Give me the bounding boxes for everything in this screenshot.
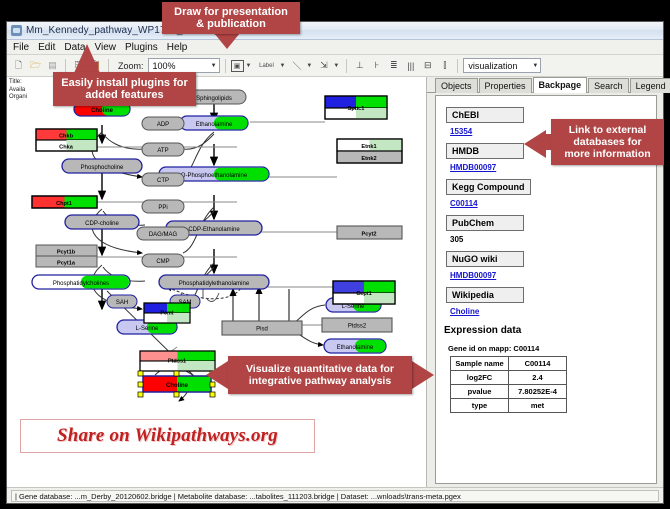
copy-icon[interactable]: ⎘: [71, 58, 86, 73]
datanode-icon[interactable]: ▣: [231, 60, 244, 72]
zoom-label: Zoom:: [118, 61, 144, 71]
callout-plugins-line2: added features: [61, 89, 188, 101]
node-ptdss2: Ptdss2: [322, 318, 392, 332]
node-ethanolamine: Ethanolamine: [180, 116, 248, 130]
expr-key-type: type: [451, 399, 509, 413]
expr-value-pvalue: 7.80252E-4: [509, 385, 567, 399]
node-cept1: Cept1: [333, 281, 395, 304]
svg-text:O-Phosphoethanolamine: O-Phosphoethanolamine: [181, 173, 248, 179]
svg-text:Phosphatidylcholines: Phosphatidylcholines: [53, 281, 109, 287]
chevron-down-icon: ▼: [205, 63, 217, 69]
svg-text:Ethanolamine: Ethanolamine: [196, 122, 233, 128]
node-pcyt2: Pcyt2: [337, 226, 402, 239]
visualization-combobox[interactable]: visualization ▼: [463, 58, 541, 73]
db-header-chebi: ChEBI: [446, 107, 524, 123]
svg-text:Phosphocholine: Phosphocholine: [81, 165, 124, 171]
db-value-pubchem: 305: [450, 235, 656, 244]
svg-text:Cept1: Cept1: [356, 291, 372, 297]
callout-visualize-quantitative-data: Visualize quantitative data for integrat…: [228, 356, 412, 394]
expr-key-log2fc: log2FC: [451, 371, 509, 385]
callout-easily-install-plugins: Easily install plugins for added feature…: [53, 72, 196, 106]
svg-text:Chpt1: Chpt1: [56, 201, 72, 207]
node-dagmag: DAG/MAG: [137, 227, 189, 240]
panel-tab-strip: Objects Properties Backpage Search Legen…: [427, 77, 663, 93]
application-icon: [11, 25, 22, 36]
db-header-hmdb: HMDB: [446, 143, 524, 159]
pathway-title-label: Title:: [9, 79, 27, 87]
menu-edit[interactable]: Edit: [38, 40, 55, 55]
expression-data-table: Sample name C00114 log2FC 2.4 pvalue 7.8…: [450, 356, 567, 413]
node-atp: ATP: [142, 143, 184, 156]
expr-key-sample-name: Sample name: [451, 357, 509, 371]
table-row: log2FC 2.4: [451, 371, 567, 385]
expr-value-sample-name: C00114: [509, 357, 567, 371]
node-chpt1: Chpt1: [32, 196, 97, 208]
toolbar-separator-1: [65, 59, 66, 73]
callout-link-to-external-databases: Link to external databases for more info…: [551, 119, 664, 165]
order-icon[interactable]: ⫿: [437, 58, 452, 73]
db-header-wikipedia: Wikipedia: [446, 287, 524, 303]
node-ctp: CTP: [142, 173, 184, 186]
status-bar-text: | Gene database: ...m_Derby_20120602.bri…: [11, 490, 659, 502]
svg-text:Sptlc1: Sptlc1: [348, 106, 365, 112]
node-ptdss1: Ptdss1: [140, 351, 215, 371]
pathway-available-label: Availa: [9, 87, 27, 95]
node-etnk1-etnk2: Etnk1 Etnk2: [337, 139, 402, 163]
node-pisd: Pisd: [222, 321, 302, 335]
menu-plugins[interactable]: Plugins: [125, 40, 158, 55]
toolbar-separator-3: [225, 59, 226, 73]
table-row: Sample name C00114: [451, 357, 567, 371]
svg-text:Chkb: Chkb: [59, 133, 74, 139]
visualization-value: visualization: [468, 61, 517, 71]
svg-text:Phosphatidylethanolamine: Phosphatidylethanolamine: [179, 281, 250, 287]
pathway-organism-label: Organi: [9, 94, 27, 102]
node-pemt: Pemt: [144, 303, 190, 323]
align-top-icon[interactable]: ⊥: [352, 58, 367, 73]
svg-text:Chka: Chka: [59, 144, 74, 150]
node-chkb-chka: Chkb Chka: [36, 129, 97, 151]
arrow-tool-icon[interactable]: ⇲: [316, 58, 331, 73]
node-choline-selected: Choline: [138, 371, 215, 397]
svg-text:CTP: CTP: [157, 178, 169, 184]
svg-text:Ptdss1: Ptdss1: [168, 359, 186, 365]
db-header-kegg-compound: Kegg Compound: [446, 179, 531, 195]
table-row: pvalue 7.80252E-4: [451, 385, 567, 399]
svg-text:CDP-choline: CDP-choline: [85, 221, 119, 227]
distribute-icon[interactable]: |||: [403, 58, 418, 73]
callout-visual-line2: integrative pathway analysis: [246, 375, 394, 387]
svg-text:CMP: CMP: [156, 259, 169, 265]
db-header-pubchem: PubChem: [446, 215, 524, 231]
svg-text:Choline: Choline: [166, 383, 189, 389]
callout-draw-line1: Draw for presentation: [174, 6, 288, 18]
label-dropdown-icon[interactable]: ▼: [279, 63, 285, 69]
toolbar-separator-5: [457, 59, 458, 73]
svg-text:Pemt: Pemt: [160, 311, 173, 317]
arrow-dropdown-icon[interactable]: ▼: [333, 63, 339, 69]
svg-text:L-Serine: L-Serine: [342, 304, 365, 310]
node-phosphatidylcholines: Phosphatidylcholines: [32, 275, 130, 289]
chevron-down-icon: ▼: [526, 63, 538, 69]
open-folder-icon[interactable]: 🗁: [28, 58, 43, 73]
callout-share-on-wikipathways: Share on Wikipathways.org: [20, 419, 315, 453]
tab-properties[interactable]: Properties: [479, 78, 532, 93]
svg-text:Pcyt1a: Pcyt1a: [57, 260, 76, 266]
node-adp: ADP: [142, 117, 184, 130]
menu-file[interactable]: File: [13, 40, 29, 55]
group-icon[interactable]: ⊟: [420, 58, 435, 73]
node-pcyt1b-pcyt1a: Pcyt1b Pcyt1a: [36, 245, 97, 267]
save-icon[interactable]: ▤: [45, 58, 60, 73]
callout-links-line3: more information: [564, 148, 650, 160]
svg-text:Pcyt1b: Pcyt1b: [57, 249, 76, 255]
align-left-icon[interactable]: ⊦: [369, 58, 384, 73]
new-icon[interactable]: 🗋: [11, 58, 26, 73]
db-link-nugo-wiki[interactable]: HMDB00097: [450, 271, 656, 280]
svg-text:ADP: ADP: [157, 122, 169, 128]
toolbar-separator-2: [108, 59, 109, 73]
db-header-nugo-wiki: NuGO wiki: [446, 251, 524, 267]
zoom-combobox[interactable]: 100% ▼: [148, 58, 220, 73]
expr-key-pvalue: pvalue: [451, 385, 509, 399]
menu-data[interactable]: Data: [64, 40, 85, 55]
tab-backpage[interactable]: Backpage: [533, 77, 588, 93]
svg-text:SAH: SAH: [116, 300, 128, 306]
callout-links-line2: databases for: [564, 136, 650, 148]
callout-plugins-line1: Easily install plugins for: [61, 77, 188, 89]
svg-text:DAG/MAG: DAG/MAG: [149, 232, 178, 238]
toolbar-separator-4: [346, 59, 347, 73]
menu-bar: File Edit Data View Plugins Help: [7, 40, 663, 55]
table-row: type met: [451, 399, 567, 413]
db-link-kegg-compound[interactable]: C00114: [450, 199, 656, 208]
svg-text:Sphingolipids: Sphingolipids: [196, 96, 232, 102]
status-bar: | Gene database: ...m_Derby_20120602.bri…: [7, 487, 663, 503]
expr-value-log2fc: 2.4: [509, 371, 567, 385]
menu-help[interactable]: Help: [167, 40, 188, 55]
svg-text:Etnk1: Etnk1: [361, 144, 376, 150]
svg-text:PPi: PPi: [158, 205, 167, 211]
callout-draw-for-publication: Draw for presentation & publication: [162, 2, 300, 34]
pathway-info-box: Title: Availa Organi: [9, 79, 27, 102]
svg-text:Pisd: Pisd: [256, 327, 268, 333]
menu-view[interactable]: View: [94, 40, 116, 55]
callout-visual-line1: Visualize quantitative data for: [246, 363, 394, 375]
tab-objects[interactable]: Objects: [435, 78, 478, 93]
callout-draw-line2: & publication: [174, 18, 288, 30]
expression-data-title: Expression data: [444, 325, 656, 336]
paste-icon[interactable]: 📋: [88, 58, 103, 73]
callout-links-line1: Link to external: [564, 124, 650, 136]
label-tool-icon[interactable]: Label: [255, 58, 277, 73]
stack-vertical-icon[interactable]: ≣: [386, 58, 401, 73]
share-text: Share on Wikipathways.org: [57, 425, 278, 447]
node-phosphocholine: Phosphocholine: [62, 159, 142, 173]
node-cdp-choline: CDP-choline: [65, 215, 139, 229]
line-dropdown-icon[interactable]: ▼: [306, 63, 312, 69]
datanode-dropdown-icon[interactable]: ▼: [246, 63, 252, 69]
expr-value-type: met: [509, 399, 567, 413]
node-sptlc1: Sptlc1: [325, 96, 387, 119]
window-title-bar: Mm_Kennedy_pathway_WP1771_45176.gpml: [7, 22, 663, 40]
tab-legend[interactable]: Legend: [630, 78, 670, 93]
node-ethanolamine-bottom: Ethanolamine: [324, 339, 386, 353]
gene-id-on-mapp: Gene id on mapp: C00114: [448, 344, 656, 353]
svg-text:CDP-Ethanolamine: CDP-Ethanolamine: [188, 227, 240, 233]
svg-text:Etnk2: Etnk2: [361, 156, 376, 162]
tab-search[interactable]: Search: [588, 78, 629, 93]
zoom-value: 100%: [153, 61, 176, 71]
node-cmp: CMP: [142, 254, 184, 267]
node-phosphatidylethanolamine: Phosphatidylethanolamine: [159, 275, 269, 289]
svg-text:Choline: Choline: [91, 108, 114, 114]
node-ppi: PPi: [142, 200, 184, 213]
svg-text:ATP: ATP: [157, 148, 168, 154]
svg-text:Ethanolamine: Ethanolamine: [337, 345, 374, 351]
node-sah: SAH: [107, 295, 137, 308]
db-link-wikipedia[interactable]: Choline: [450, 307, 656, 316]
svg-text:L-Serine: L-Serine: [136, 326, 159, 332]
svg-text:Ptdss2: Ptdss2: [348, 324, 367, 330]
line-tool-icon[interactable]: ＼: [289, 58, 304, 73]
svg-text:Pcyt2: Pcyt2: [362, 231, 377, 237]
